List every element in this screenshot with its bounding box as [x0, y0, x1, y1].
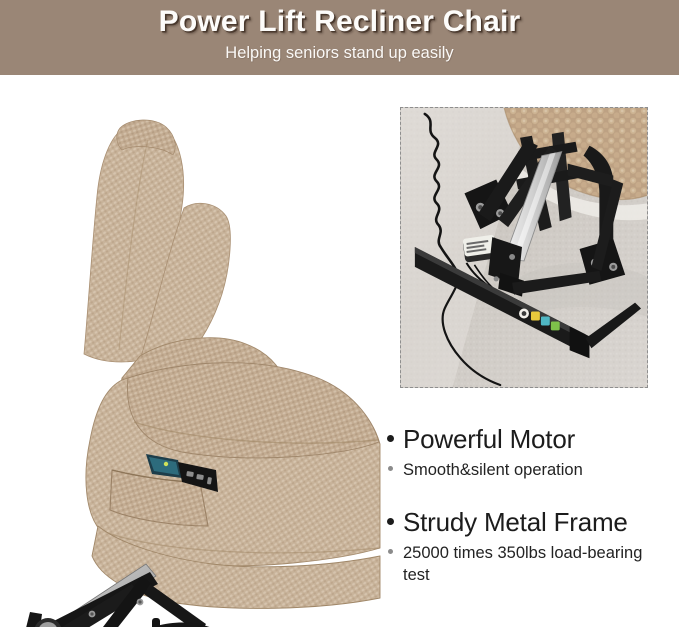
lift-mechanism-inset-photo — [400, 107, 648, 388]
feature-sub-text: Smooth&silent operation — [403, 459, 583, 481]
bullet-dot-icon — [387, 518, 394, 525]
feature-headline-row: Strudy Metal Frame — [385, 507, 679, 537]
page-title: Power Lift Recliner Chair — [159, 4, 521, 40]
sub-bullet-dot-icon — [388, 466, 393, 471]
bullet-dot-icon — [387, 435, 394, 442]
feature-sub-row: 25000 times 350lbs load-bearing test — [385, 542, 679, 586]
recliner-chair-illustration — [0, 78, 385, 627]
lift-mechanism-illustration — [401, 108, 647, 387]
feature-block-powerful-motor: Powerful Motor Smooth&silent operation — [385, 424, 679, 481]
feature-list: Powerful Motor Smooth&silent operation S… — [385, 418, 679, 627]
feature-headline-text: Strudy Metal Frame — [403, 507, 628, 537]
page-subtitle: Helping seniors stand up easily — [225, 43, 453, 63]
recliner-chair-photo — [0, 78, 385, 627]
feature-sub-text: 25000 times 350lbs load-bearing test — [403, 542, 655, 586]
feature-sub-row: Smooth&silent operation — [385, 459, 679, 481]
sub-bullet-dot-icon — [388, 549, 393, 554]
feature-block-sturdy-metal-frame: Strudy Metal Frame 25000 times 350lbs lo… — [385, 507, 679, 586]
chair-seat-arm — [86, 363, 380, 566]
feature-headline-row: Powerful Motor — [385, 424, 679, 454]
header-banner: Power Lift Recliner Chair Helping senior… — [0, 0, 679, 75]
feature-headline-text: Powerful Motor — [403, 424, 575, 454]
